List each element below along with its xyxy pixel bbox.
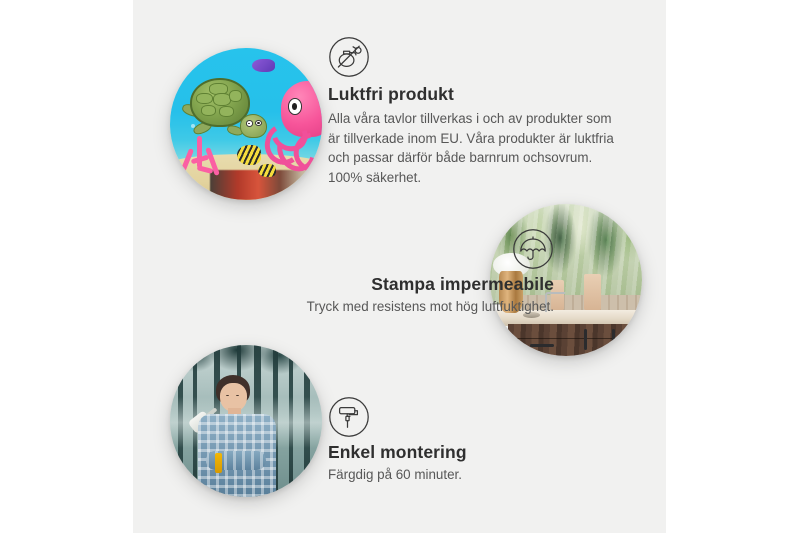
forest-scene [170,345,322,497]
sea-turtle [185,74,266,141]
ocean-scene [170,48,322,200]
feature-panel: Luktfri produkt Alla våra tavlor tillver… [133,0,666,533]
feature-title: Enkel montering [328,442,628,463]
coral [176,133,228,185]
octopus [267,81,322,160]
cabinet-handle [584,329,587,350]
drawer-seam [508,338,642,340]
no-odour-perfume-bottle-icon [328,36,370,78]
wood-cabinet [508,324,642,356]
paint-roller-icon [328,396,370,438]
striped-fish [237,145,261,165]
feature-body: Alla våra tavlor tillverkas i och av pro… [328,109,626,188]
umbrella-waterproof-icon [512,228,554,270]
feature-body: Tryck med resistens mot hög luftfuktighe… [208,297,554,317]
feature-block-2: Stampa impermeabile Tryck med resistens … [208,228,554,317]
candle-jar [584,274,601,310]
woman-figure [194,375,279,497]
promo-banner: Luktfri produkt Alla våra tavlor tillver… [0,0,800,533]
feature-title: Luktfri produkt [328,84,626,105]
striped-fish [258,164,276,178]
drawer-handle [530,344,554,347]
purple-fish [252,59,275,73]
woman-with-paint-roller-circle-photo [170,345,322,497]
feature-body: Färgdig på 60 minuter. [328,465,628,485]
feature-block-3: Enkel montering Färgdig på 60 minuter. [328,396,628,485]
feature-title: Stampa impermeabile [208,274,554,295]
feature-block-1: Luktfri produkt Alla våra tavlor tillver… [328,36,626,188]
underwater-cartoon-circle-photo [170,48,322,200]
cabinet-handle [612,329,615,350]
